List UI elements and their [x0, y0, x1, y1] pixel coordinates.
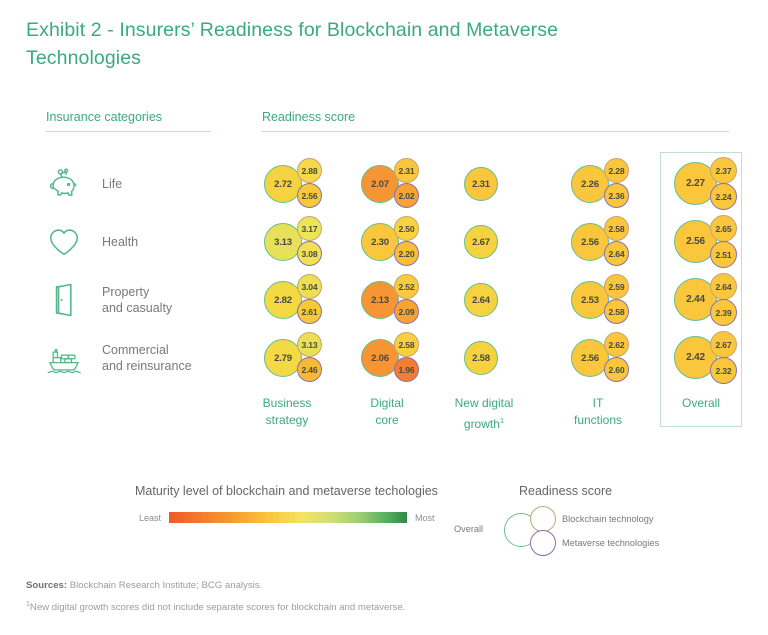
- legend-overall-label: Overall: [454, 524, 483, 534]
- readiness-legend: Overall Blockchain technology Metaverse …: [452, 505, 702, 555]
- bubble-metaverse: 2.46: [297, 357, 322, 382]
- header-readiness-score: Readiness score: [262, 110, 355, 124]
- bubble-blockchain: 2.52: [394, 274, 419, 299]
- bubble-overall: 2.67: [464, 225, 498, 259]
- bubble-cluster: 2.722.882.56: [258, 155, 348, 213]
- bubble-blockchain: 2.64: [710, 273, 737, 300]
- bubble-cluster: 2.532.592.58: [565, 271, 655, 329]
- column-label-new-digital-growth: New digitalgrowth1: [434, 395, 534, 433]
- bubble-metaverse: 2.20: [394, 241, 419, 266]
- footnote-sources: Sources: Blockchain Research Institute; …: [26, 580, 262, 591]
- cargo-ship-icon: [44, 338, 84, 378]
- bubble-cluster: 2.58: [452, 329, 542, 387]
- bubble-metaverse: 3.08: [297, 241, 322, 266]
- maturity-most-label: Most: [415, 513, 435, 523]
- bubble-cluster: 2.272.372.24: [672, 155, 762, 213]
- bubble-metaverse: 2.36: [604, 183, 629, 208]
- bubble-blockchain: 2.59: [604, 274, 629, 299]
- bubble-metaverse: 2.58: [604, 299, 629, 324]
- legend-metaverse-label: Metaverse technologies: [562, 538, 659, 548]
- bubble-blockchain: 2.58: [604, 216, 629, 241]
- page-title: Exhibit 2 - Insurers’ Readiness for Bloc…: [26, 16, 666, 72]
- heart-icon: [44, 222, 84, 262]
- bubble-blockchain: 2.67: [710, 331, 737, 358]
- category-label: Propertyand casualty: [102, 284, 172, 316]
- bubble-cluster: 2.072.312.02: [355, 155, 445, 213]
- bubble-blockchain: 2.88: [297, 158, 322, 183]
- category-row-health: Health: [44, 213, 259, 271]
- bubble-metaverse: 2.39: [710, 299, 737, 326]
- bubble-metaverse: 2.51: [710, 241, 737, 268]
- bubble-blockchain: 2.28: [604, 158, 629, 183]
- bubble-blockchain: 3.13: [297, 332, 322, 357]
- bubble-cluster: 2.823.042.61: [258, 271, 348, 329]
- bubble-metaverse: 2.24: [710, 183, 737, 210]
- footnote-sources-label: Sources:: [26, 580, 67, 591]
- column-label-it-functions: ITfunctions: [548, 395, 648, 429]
- bubble-blockchain: 2.58: [394, 332, 419, 357]
- bubble-cluster: 2.562.622.60: [565, 329, 655, 387]
- piggy-bank-icon: [44, 164, 84, 204]
- bubble-metaverse: 2.09: [394, 299, 419, 324]
- category-label: Life: [102, 176, 122, 192]
- column-label-digital-core: Digitalcore: [337, 395, 437, 429]
- maturity-legend-title: Maturity level of blockchain and metaver…: [135, 484, 438, 498]
- exhibit-page: Exhibit 2 - Insurers’ Readiness for Bloc…: [0, 0, 768, 635]
- bubble-overall: 2.31: [464, 167, 498, 201]
- column-label-overall: Overall: [651, 395, 751, 412]
- bubble-blockchain: 2.37: [710, 157, 737, 184]
- bubble-metaverse: 2.64: [604, 241, 629, 266]
- bubble-metaverse: 2.32: [710, 357, 737, 384]
- bubble-cluster: 2.64: [452, 271, 542, 329]
- category-row-life: Life: [44, 155, 259, 213]
- header-rule: [262, 131, 729, 132]
- bubble-metaverse: 2.61: [297, 299, 322, 324]
- bubble-cluster: 2.562.652.51: [672, 213, 762, 271]
- header-insurance-categories-label: Insurance categories: [46, 110, 162, 124]
- bubble-overall: 2.58: [464, 341, 498, 375]
- header-readiness-score-label: Readiness score: [262, 110, 355, 124]
- bubble-cluster: 2.262.282.36: [565, 155, 655, 213]
- header-insurance-categories: Insurance categories: [46, 110, 162, 124]
- footer-divider: [26, 566, 742, 567]
- bubble-blockchain: 2.31: [394, 158, 419, 183]
- footnote-1-text: New digital growth scores did not includ…: [30, 602, 405, 613]
- bubble-metaverse: 2.02: [394, 183, 419, 208]
- category-row-property: Propertyand casualty: [44, 271, 259, 329]
- bubble-cluster: 2.422.672.32: [672, 329, 762, 387]
- bubble-cluster: 2.062.581.96: [355, 329, 445, 387]
- bubble-cluster: 2.442.642.39: [672, 271, 762, 329]
- maturity-least-label: Least: [139, 513, 161, 523]
- bubble-overall: 2.64: [464, 283, 498, 317]
- bubble-cluster: 3.133.173.08: [258, 213, 348, 271]
- bubble-cluster: 2.793.132.46: [258, 329, 348, 387]
- bubble-metaverse: 1.96: [394, 357, 419, 382]
- bubble-cluster: 2.31: [452, 155, 542, 213]
- bubble-cluster: 2.67: [452, 213, 542, 271]
- bubble-metaverse: 2.60: [604, 357, 629, 382]
- footnote-1: 1New digital growth scores did not inclu…: [26, 601, 405, 613]
- bubble-cluster: 2.132.522.09: [355, 271, 445, 329]
- bubble-blockchain: 2.65: [710, 215, 737, 242]
- bubble-blockchain: 3.17: [297, 216, 322, 241]
- legend-blockchain-bubble: [530, 506, 556, 532]
- column-label-footnote-marker: 1: [500, 416, 504, 425]
- column-label-business-strategy: Businessstrategy: [237, 395, 337, 429]
- category-label: Health: [102, 234, 138, 250]
- bubble-blockchain: 2.62: [604, 332, 629, 357]
- legend-metaverse-bubble: [530, 530, 556, 556]
- bubble-cluster: 2.562.582.64: [565, 213, 655, 271]
- footnote-sources-text: Blockchain Research Institute; BCG analy…: [67, 580, 262, 591]
- category-label: Commercialand reinsurance: [102, 342, 192, 374]
- category-row-commercial: Commercialand reinsurance: [44, 329, 259, 387]
- bubble-cluster: 2.302.502.20: [355, 213, 445, 271]
- legend-blockchain-label: Blockchain technology: [562, 514, 653, 524]
- readiness-legend-title: Readiness score: [519, 484, 612, 498]
- bubble-blockchain: 2.50: [394, 216, 419, 241]
- door-icon: [44, 280, 84, 320]
- maturity-gradient-bar: [169, 512, 407, 523]
- bubble-metaverse: 2.56: [297, 183, 322, 208]
- bubble-blockchain: 3.04: [297, 274, 322, 299]
- header-rule: [46, 131, 211, 132]
